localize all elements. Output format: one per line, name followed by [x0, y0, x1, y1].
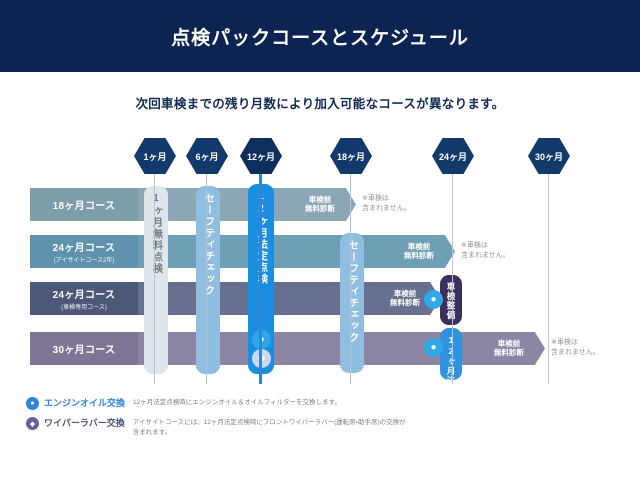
- legend: ●エンジンオイル交換12ヶ月法定点検時にエンジンオイル＆オイルフィルターを交換し…: [26, 396, 626, 444]
- course-label: 18ヶ月コース: [30, 188, 138, 221]
- milestone-label: 24ヶ月: [439, 150, 467, 163]
- course-label-main: 24ヶ月コース: [53, 286, 116, 301]
- course-label-sub: (アイサイトコース2年): [54, 255, 115, 264]
- milestone-label: 6ヶ月: [195, 150, 218, 163]
- milestone-stem: [259, 166, 262, 384]
- milestone-column: 12ヶ月法定点検: [440, 328, 462, 380]
- milestone-stem: [548, 166, 549, 384]
- wiper-change-icon: ◆: [26, 417, 39, 430]
- legend-description: アイサイトコースには、12ヶ月法定点検時にフロントワイパーラバー(運転席・助手席…: [133, 416, 406, 438]
- course-label-main: 18ヶ月コース: [53, 197, 116, 212]
- milestone-label: 12ヶ月: [247, 150, 275, 163]
- milestone-stem: [452, 166, 453, 384]
- schedule-diagram: 18ヶ月コース車検前 無料診断※車検は 含まれません。24ヶ月コース(アイサイト…: [0, 130, 640, 390]
- oil-change-icon: ●: [424, 290, 443, 309]
- milestone-column: 1ヶ月無料点検: [144, 186, 168, 374]
- milestone-hexagon: 12ヶ月: [240, 138, 282, 174]
- milestone-hexagon: 1ヶ月: [134, 138, 176, 174]
- oil-change-icon: ●: [424, 338, 443, 357]
- exclusion-note: ※車検は 含まれません。: [551, 338, 600, 358]
- milestone-column-label: セーフティチェック: [345, 240, 360, 344]
- exclusion-note: ※車検は 含まれません。: [461, 241, 510, 261]
- milestone-hexagon: 24ヶ月: [432, 138, 474, 174]
- page-title: 点検パックコースとスケジュール: [171, 23, 469, 50]
- subtitle-text: 次回車検までの残り月数により加入可能なコースが異なります。: [0, 93, 640, 112]
- course-label: 24ヶ月コース(アイサイトコース2年): [30, 235, 138, 268]
- legend-item: ◆ワイパーラバー交換アイサイトコースには、12ヶ月法定点検時にフロントワイパーラ…: [26, 416, 626, 438]
- course-label: 30ヶ月コース: [30, 332, 138, 365]
- exclusion-note: ※車検は 含まれません。: [362, 194, 411, 214]
- pre-inspection-arrow: 車検前 無料診断: [383, 235, 455, 268]
- milestone-column: 車検整備: [440, 275, 462, 325]
- milestone-column-label: 車検整備: [445, 282, 457, 320]
- course-label-main: 30ヶ月コース: [53, 341, 116, 356]
- milestone-stem: [350, 166, 351, 384]
- legend-term: エンジンオイル交換: [44, 396, 125, 409]
- milestone-hexagon: 18ヶ月: [330, 138, 372, 174]
- course-label-main: 24ヶ月コース: [53, 239, 116, 254]
- milestone-stem: [154, 166, 155, 384]
- milestone-column-label: 1ヶ月無料点検: [149, 193, 164, 275]
- milestone-column: セーフティチェック: [340, 233, 364, 373]
- milestone-column-label: セーフティチェック: [201, 193, 216, 297]
- legend-description: 12ヶ月法定点検時にエンジンオイル＆オイルフィルターを交換します。: [133, 396, 341, 408]
- milestone-label: 18ヶ月: [337, 150, 365, 163]
- legend-term: ワイパーラバー交換: [44, 416, 125, 429]
- milestone-hexagon: 6ヶ月: [186, 138, 228, 174]
- pre-inspection-arrow: 車検前 無料診断: [473, 332, 545, 365]
- milestone-label: 30ヶ月: [535, 150, 563, 163]
- milestone-label: 1ヶ月: [143, 150, 166, 163]
- oil-change-icon: ●: [26, 397, 39, 410]
- legend-item: ●エンジンオイル交換12ヶ月法定点検時にエンジンオイル＆オイルフィルターを交換し…: [26, 396, 626, 410]
- pre-inspection-arrow: 車検前 無料診断: [284, 188, 356, 221]
- milestone-column: セーフティチェック: [196, 186, 220, 374]
- course-label: 24ヶ月コース(車検専用コース): [30, 282, 138, 315]
- header-band: 点検パックコースとスケジュール: [0, 0, 640, 72]
- milestone-stem: [206, 166, 207, 384]
- milestone-hexagon: 30ヶ月: [528, 138, 570, 174]
- course-label-sub: (車検専用コース): [61, 302, 107, 311]
